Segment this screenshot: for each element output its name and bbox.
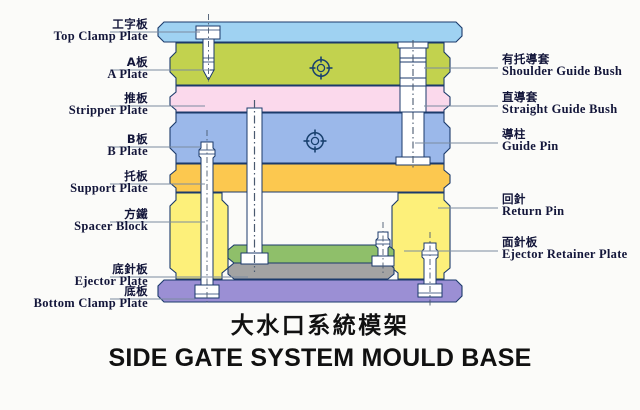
label-a-plate: A板 A Plate [8, 56, 148, 82]
label-support-plate-en: Support Plate [8, 182, 148, 196]
label-spacer-block-en: Spacer Block [8, 220, 148, 234]
label-stripper-plate: 推板 Stripper Plate [8, 92, 148, 118]
label-top-clamp-plate-en: Top Clamp Plate [8, 30, 148, 44]
label-straight-guide-bush: 直導套 Straight Guide Bush [502, 91, 617, 117]
label-ejector-retainer-plate: 面針板 Ejector Retainer Plate [502, 236, 628, 262]
label-shoulder-guide-bush-en: Shoulder Guide Bush [502, 65, 622, 79]
figure-canvas: 工字板 Top Clamp Plate A板 A Plate 推板 Stripp… [0, 0, 640, 410]
label-spacer-block: 方鐵 Spacer Block [8, 208, 148, 234]
label-shoulder-guide-bush: 有托導套 Shoulder Guide Bush [502, 53, 622, 79]
figure-title-cn: 大水口系統模架 [0, 312, 640, 341]
label-support-plate: 托板 Support Plate [8, 170, 148, 196]
label-return-pin-en: Return Pin [502, 205, 564, 219]
figure-title-en: SIDE GATE SYSTEM MOULD BASE [0, 343, 640, 374]
label-return-pin: 回針 Return Pin [502, 193, 564, 219]
label-stripper-plate-en: Stripper Plate [8, 104, 148, 118]
label-straight-guide-bush-en: Straight Guide Bush [502, 103, 617, 117]
label-b-plate-en: B Plate [8, 145, 148, 159]
figure-title: 大水口系統模架 SIDE GATE SYSTEM MOULD BASE [0, 312, 640, 374]
label-bottom-clamp-plate-en: Bottom Clamp Plate [0, 297, 148, 311]
label-guide-pin: 導柱 Guide Pin [502, 128, 559, 154]
label-top-clamp-plate: 工字板 Top Clamp Plate [8, 18, 148, 44]
label-guide-pin-en: Guide Pin [502, 140, 559, 154]
label-b-plate: B板 B Plate [8, 133, 148, 159]
label-ejector-retainer-plate-en: Ejector Retainer Plate [502, 248, 628, 262]
label-bottom-clamp-plate: 底板 Bottom Clamp Plate [0, 285, 148, 311]
label-a-plate-en: A Plate [8, 68, 148, 82]
